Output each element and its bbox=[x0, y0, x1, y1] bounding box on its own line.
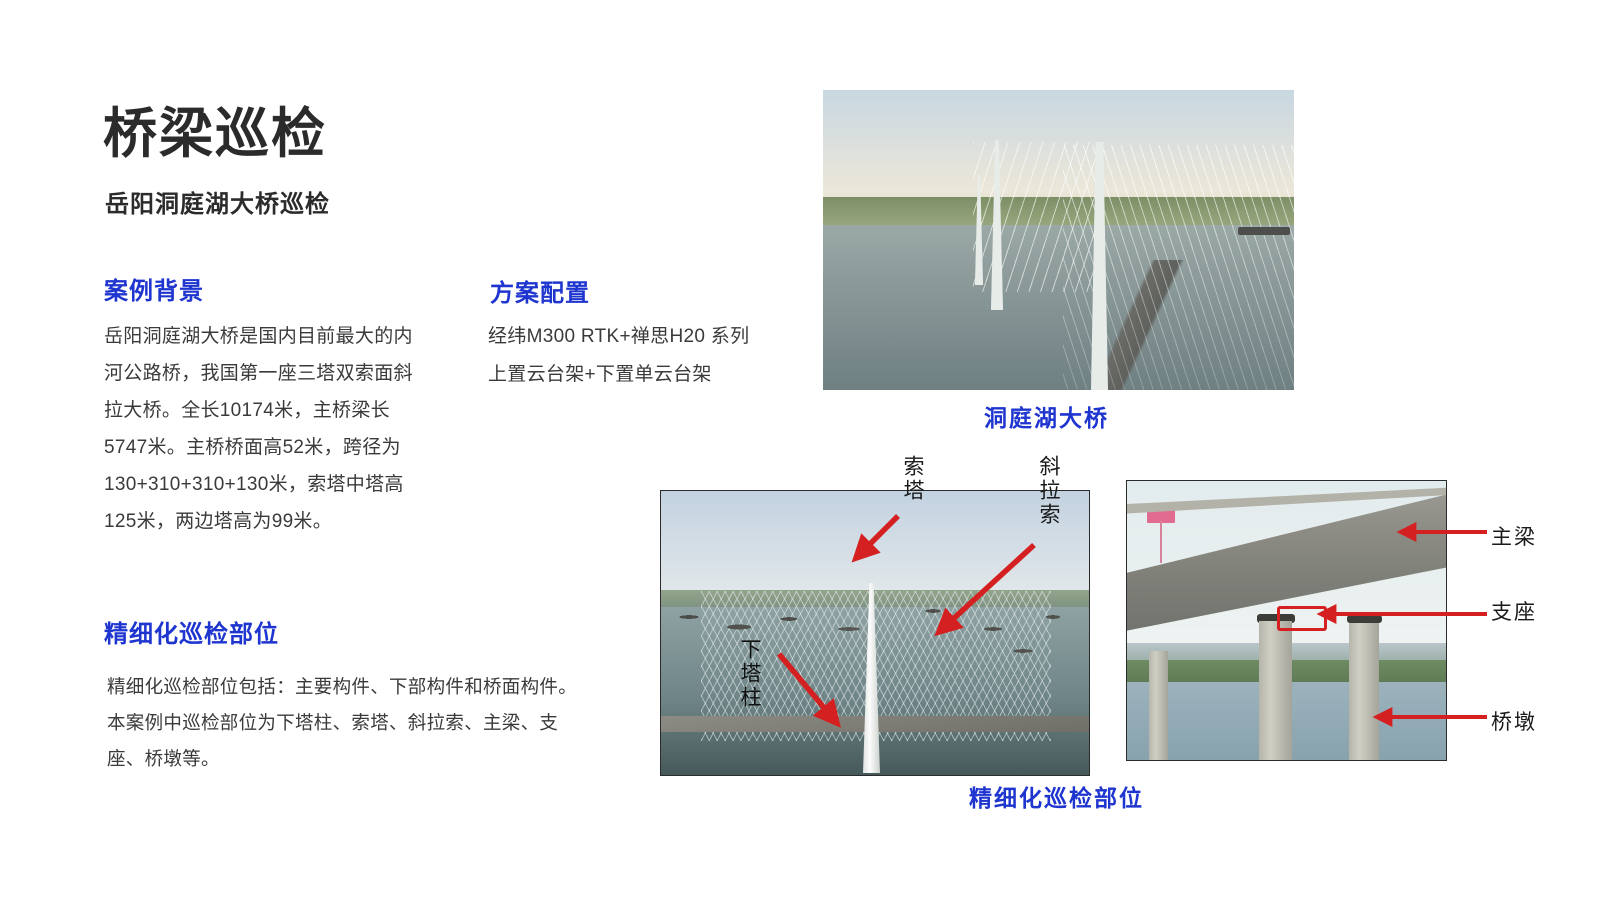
tower-cable-photo bbox=[660, 490, 1090, 776]
page-subtitle: 岳阳洞庭湖大桥巡检 bbox=[105, 184, 330, 219]
annotation-label-qiaodun: 桥墩 bbox=[1491, 706, 1537, 736]
caption-bridge-aerial: 洞庭湖大桥 bbox=[984, 399, 1109, 433]
boat-cluster-right bbox=[913, 603, 1083, 663]
annotation-label-zhuliang: 主梁 bbox=[1491, 521, 1537, 551]
caption-fine-inspection: 精细化巡检部位 bbox=[969, 779, 1144, 813]
section-heading-background: 案例背景 bbox=[104, 271, 204, 306]
pier-column-left bbox=[1259, 621, 1292, 760]
pier-column-right bbox=[1349, 623, 1379, 760]
page-title: 桥梁巡检 bbox=[103, 103, 327, 165]
slide-root: 桥梁巡检 岳阳洞庭湖大桥巡检 案例背景 岳阳洞庭湖大桥是国内目前最大的内河公路桥… bbox=[0, 0, 1600, 900]
boat-cluster-left bbox=[669, 609, 929, 639]
bearing-pad-right bbox=[1347, 615, 1382, 623]
annotation-label-suota: 索塔 bbox=[902, 455, 923, 503]
barge bbox=[1238, 227, 1290, 235]
sky-region bbox=[661, 491, 1089, 596]
section-body-configuration: 经纬M300 RTK+禅思H20 系列 上置云台架+下置单云台架 bbox=[488, 318, 788, 394]
section-heading-fine-inspection: 精细化巡检部位 bbox=[104, 614, 279, 649]
annotation-label-xielasuo: 斜拉索 bbox=[1038, 455, 1059, 527]
annotation-label-xiataozhu: 下塔柱 bbox=[739, 638, 760, 710]
bridge-aerial-photo bbox=[823, 90, 1294, 390]
section-body-fine-inspection: 精细化巡检部位包括：主要构件、下部构件和桥面构件。本案例中巡检部位为下塔柱、索塔… bbox=[107, 669, 583, 777]
billboard-pole bbox=[1160, 521, 1162, 563]
annotation-label-zhizuo: 支座 bbox=[1491, 596, 1537, 626]
bearing-highlight-box bbox=[1277, 606, 1327, 631]
pier-column-far bbox=[1149, 651, 1168, 760]
section-body-background: 岳阳洞庭湖大桥是国内目前最大的内河公路桥，我国第一座三塔双索面斜拉大桥。全长10… bbox=[104, 318, 424, 540]
section-heading-configuration: 方案配置 bbox=[490, 273, 590, 308]
